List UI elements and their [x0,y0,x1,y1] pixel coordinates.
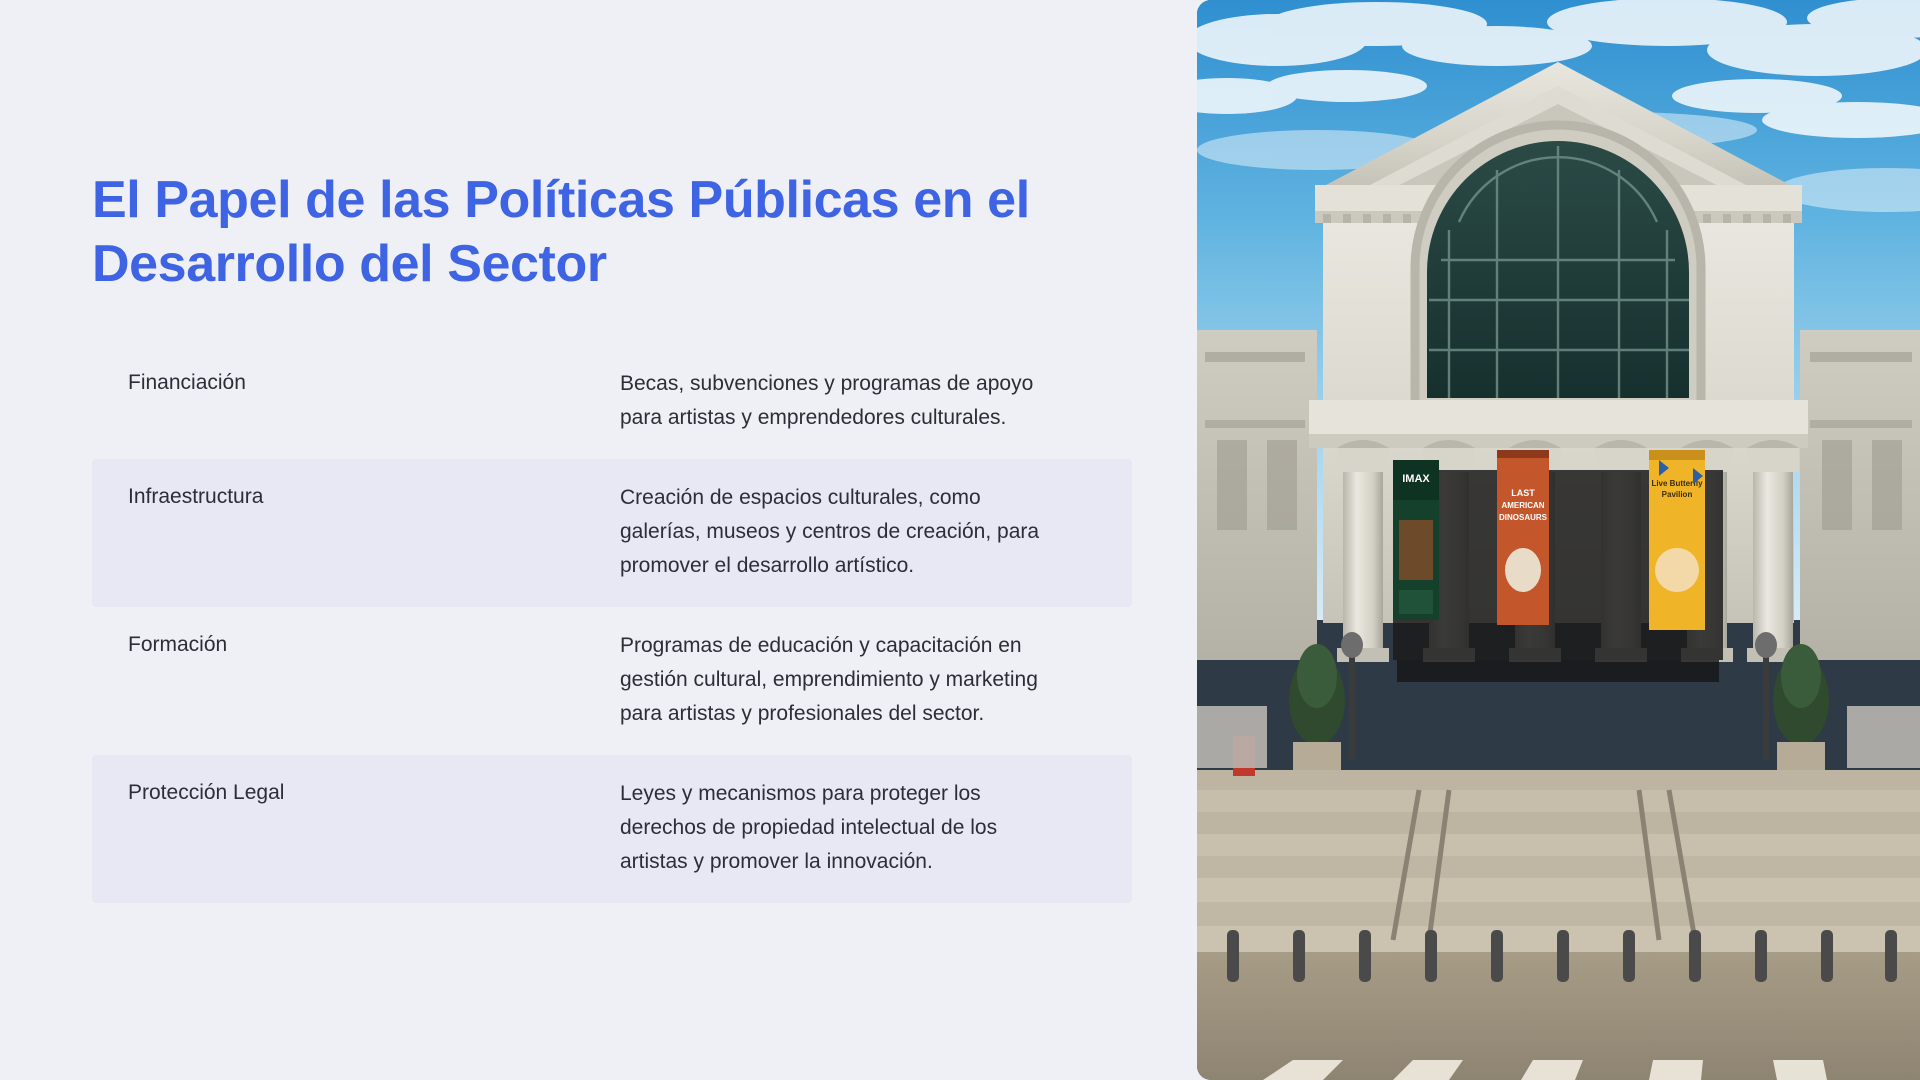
table-row: Formación Programas de educación y capac… [92,607,1132,755]
row-description: Creación de espacios culturales, como ga… [620,481,1090,583]
table-row: Protección Legal Leyes y mecanismos para… [92,755,1132,903]
row-term: Protección Legal [92,777,620,809]
banner-butterfly: Live Butterfly Pavilion [1649,450,1705,630]
page-title: El Papel de las Políticas Públicas en el… [92,168,1102,297]
svg-text:Pavilion: Pavilion [1662,490,1693,499]
banner-dinosaurs: LAST AMERICAN DINOSAURS [1497,450,1549,625]
topiary-right [1773,644,1829,772]
banner-imax: IMAX [1393,460,1439,620]
row-term: Financiación [92,367,620,399]
row-description: Leyes y mecanismos para proteger los der… [620,777,1090,879]
table-row: Financiación Becas, subvenciones y progr… [92,345,1132,459]
svg-text:DINOSAURS: DINOSAURS [1499,513,1548,522]
content-pane: El Papel de las Políticas Públicas en el… [0,0,1197,1080]
row-term: Formación [92,629,620,661]
museum-facade-illustration: IMAX LAST AMERICAN DINOSAURS Live Butter… [1197,0,1920,1080]
museum-photo: IMAX LAST AMERICAN DINOSAURS Live Butter… [1197,0,1920,1080]
svg-text:IMAX: IMAX [1402,473,1430,485]
svg-text:AMERICAN: AMERICAN [1501,501,1544,510]
row-description: Becas, subvenciones y programas de apoyo… [620,367,1090,435]
definition-table: Financiación Becas, subvenciones y progr… [92,345,1132,903]
row-description: Programas de educación y capacitación en… [620,629,1090,731]
svg-text:LAST: LAST [1511,488,1535,498]
row-term: Infraestructura [92,481,620,513]
topiary-left [1289,644,1345,772]
slide-root: El Papel de las Políticas Públicas en el… [0,0,1920,1080]
table-row: Infraestructura Creación de espacios cul… [92,459,1132,607]
